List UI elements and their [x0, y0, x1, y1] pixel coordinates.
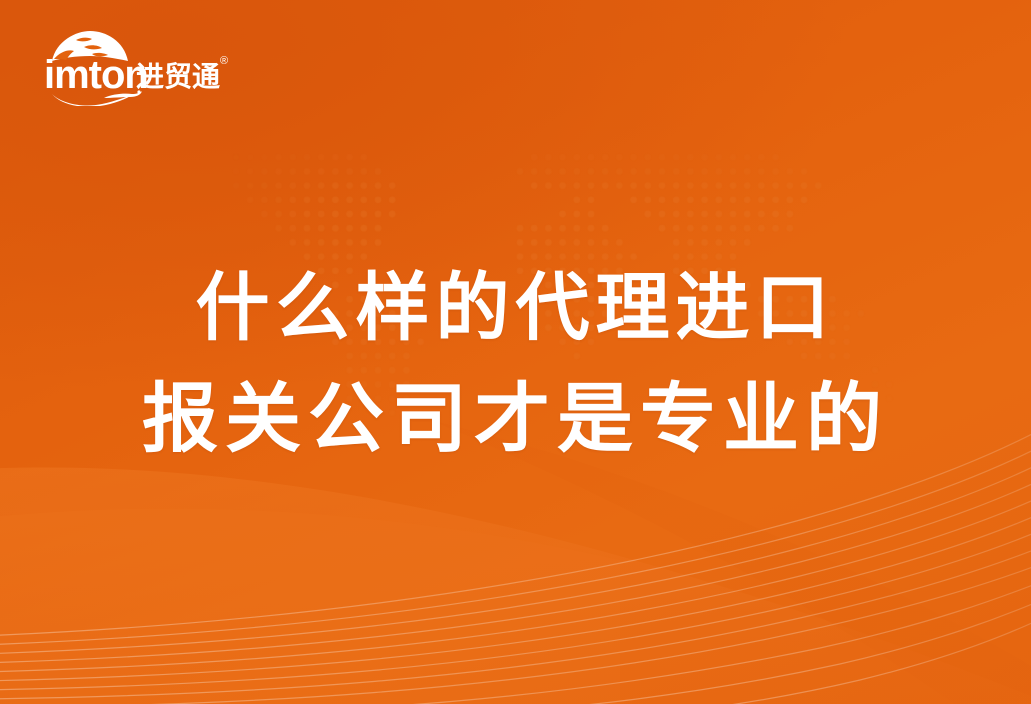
logo-wordmark: imton: [44, 53, 148, 97]
logo-svg: imton 进贸通 ®: [44, 28, 244, 106]
logo-chinese-name: 进贸通: [136, 61, 220, 92]
page-title: 什么样的代理进口 报关公司才是专业的: [0, 252, 1031, 476]
brand-logo[interactable]: imton 进贸通 ®: [44, 28, 244, 106]
logo-trademark-symbol: ®: [220, 55, 228, 67]
headline-line-2: 报关公司才是专业的: [0, 364, 1031, 476]
promo-banner: imton 进贸通 ® 什么样的代理进口 报关公司才是专业的: [0, 0, 1031, 704]
headline-line-1: 什么样的代理进口: [0, 252, 1031, 364]
